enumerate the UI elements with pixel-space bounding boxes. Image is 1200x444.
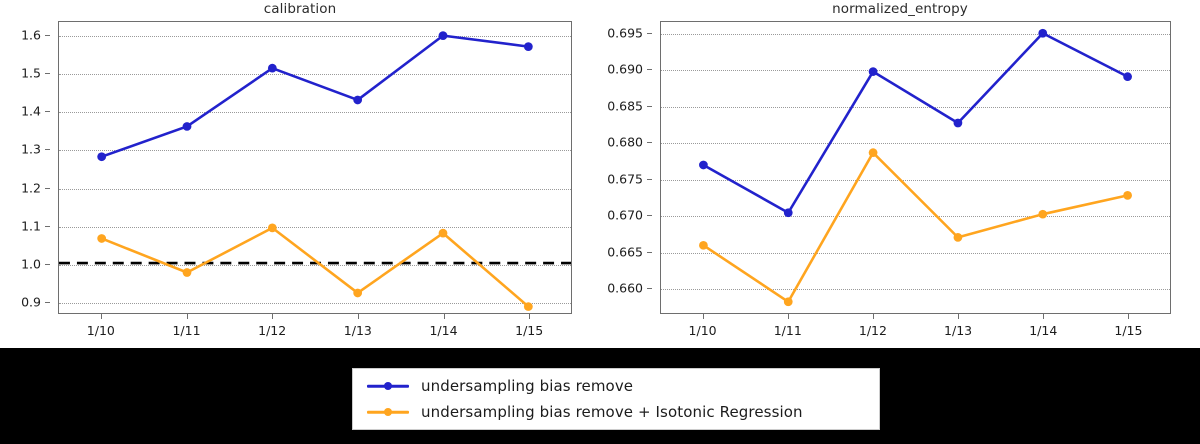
y-axis-tick-mark <box>45 188 50 189</box>
plot-area-calibration <box>58 21 572 314</box>
y-axis-tick-mark <box>647 33 652 34</box>
x-axis-tick-label: 1/15 <box>1114 323 1142 338</box>
data-point-marker[interactable] <box>1038 29 1047 38</box>
y-axis-tick-mark <box>45 73 50 74</box>
y-axis-tick-label: 1.2 <box>21 180 41 195</box>
series-layer-normalized-entropy <box>661 22 1170 313</box>
y-axis-tick-label: 0.9 <box>21 294 41 309</box>
y-axis-tick-mark <box>647 252 652 253</box>
x-axis-tick-label: 1/11 <box>172 323 200 338</box>
x-axis-tick-mark <box>703 314 704 319</box>
plot-inner-normalized-entropy <box>661 22 1170 313</box>
legend-marker-icon-1 <box>365 404 411 420</box>
data-point-marker[interactable] <box>869 148 878 157</box>
series-line <box>703 33 1127 213</box>
x-axis-tick-label: 1/15 <box>515 323 543 338</box>
y-axis-tick-label: 1.1 <box>21 218 41 233</box>
y-axis-tick-label: 0.660 <box>607 281 643 296</box>
data-point-marker[interactable] <box>1123 191 1132 200</box>
x-axis-tick-mark <box>788 314 789 319</box>
x-axis-tick-mark <box>1043 314 1044 319</box>
data-point-marker[interactable] <box>97 152 106 161</box>
y-axis-tick-mark <box>45 149 50 150</box>
x-axis-tick-label: 1/11 <box>774 323 802 338</box>
y-axis-tick-label: 1.6 <box>21 28 41 43</box>
series-layer-calibration <box>59 22 571 313</box>
y-axis-tick-label: 0.680 <box>607 135 643 150</box>
series-line <box>102 36 529 157</box>
x-axis-tick-label: 1/10 <box>689 323 717 338</box>
x-axis-tick-mark <box>358 314 359 319</box>
y-axis-tick-mark <box>45 226 50 227</box>
data-point-marker[interactable] <box>353 289 362 298</box>
legend-item-0[interactable]: undersampling bias remove <box>365 375 869 397</box>
x-axis-tick-label: 1/12 <box>258 323 286 338</box>
data-point-marker[interactable] <box>699 161 708 170</box>
data-point-marker[interactable] <box>183 122 192 131</box>
x-axis-left: 1/101/111/121/131/141/15 <box>58 314 572 344</box>
data-point-marker[interactable] <box>869 67 878 76</box>
y-axis-tick-label: 0.685 <box>607 98 643 113</box>
x-axis-tick-mark <box>958 314 959 319</box>
chart-title-calibration: calibration <box>0 1 600 17</box>
plot-inner-calibration <box>59 22 571 313</box>
legend-item-1[interactable]: undersampling bias remove + Isotonic Reg… <box>365 401 869 423</box>
legend-label-1: undersampling bias remove + Isotonic Reg… <box>421 403 803 421</box>
data-point-marker[interactable] <box>268 64 277 73</box>
data-point-marker[interactable] <box>268 223 277 232</box>
data-point-marker[interactable] <box>439 229 448 238</box>
y-axis-right: 0.6600.6650.6700.6750.6800.6850.6900.695 <box>600 21 652 314</box>
y-axis-tick-label: 1.4 <box>21 104 41 119</box>
figure-canvas: calibration 0.91.01.11.21.31.41.51.6 1/1… <box>0 0 1200 348</box>
y-axis-tick-mark <box>45 264 50 265</box>
data-point-marker[interactable] <box>439 31 448 40</box>
x-axis-tick-label: 1/10 <box>87 323 115 338</box>
x-axis-tick-mark <box>873 314 874 319</box>
plot-area-normalized-entropy <box>660 21 1171 314</box>
data-point-marker[interactable] <box>1038 210 1047 219</box>
y-axis-tick-mark <box>647 288 652 289</box>
y-axis-left: 0.91.01.11.21.31.41.51.6 <box>0 21 50 314</box>
x-axis-tick-mark <box>1128 314 1129 319</box>
y-axis-tick-mark <box>647 106 652 107</box>
data-point-marker[interactable] <box>784 208 793 217</box>
x-axis-tick-label: 1/14 <box>1029 323 1057 338</box>
x-axis-tick-mark <box>272 314 273 319</box>
data-point-marker[interactable] <box>97 234 106 243</box>
y-axis-tick-label: 1.0 <box>21 256 41 271</box>
y-axis-tick-label: 0.675 <box>607 171 643 186</box>
y-axis-tick-mark <box>647 142 652 143</box>
legend-label-0: undersampling bias remove <box>421 377 633 395</box>
x-axis-tick-mark <box>187 314 188 319</box>
data-point-marker[interactable] <box>353 96 362 105</box>
x-axis-right: 1/101/111/121/131/141/15 <box>660 314 1171 344</box>
chart-panel-calibration: calibration 0.91.01.11.21.31.41.51.6 1/1… <box>0 0 600 348</box>
y-axis-tick-mark <box>45 302 50 303</box>
y-axis-tick-label: 0.690 <box>607 62 643 77</box>
y-axis-tick-mark <box>647 69 652 70</box>
chart-title-normalized-entropy: normalized_entropy <box>600 1 1200 17</box>
x-axis-tick-label: 1/13 <box>944 323 972 338</box>
x-axis-tick-label: 1/13 <box>344 323 372 338</box>
data-point-marker[interactable] <box>699 241 708 250</box>
data-point-marker[interactable] <box>954 119 963 128</box>
series-line <box>102 228 529 307</box>
y-axis-tick-label: 1.5 <box>21 66 41 81</box>
y-axis-tick-mark <box>647 179 652 180</box>
y-axis-tick-label: 1.3 <box>21 142 41 157</box>
x-axis-tick-mark <box>529 314 530 319</box>
chart-panel-normalized-entropy: normalized_entropy <box>600 0 1200 348</box>
data-point-marker[interactable] <box>954 233 963 242</box>
chart-legend: undersampling bias remove undersampling … <box>352 368 880 430</box>
y-axis-tick-label: 0.695 <box>607 26 643 41</box>
y-axis-tick-mark <box>45 111 50 112</box>
data-point-marker[interactable] <box>524 42 533 51</box>
data-point-marker[interactable] <box>1123 72 1132 81</box>
y-axis-tick-label: 0.665 <box>607 244 643 259</box>
x-axis-tick-mark <box>101 314 102 319</box>
x-axis-tick-label: 1/12 <box>859 323 887 338</box>
y-axis-tick-mark <box>647 215 652 216</box>
series-line <box>703 153 1127 302</box>
y-axis-tick-mark <box>45 35 50 36</box>
data-point-marker[interactable] <box>524 302 533 311</box>
y-axis-tick-label: 0.670 <box>607 208 643 223</box>
x-axis-tick-label: 1/14 <box>429 323 457 338</box>
legend-marker-icon-0 <box>365 378 411 394</box>
data-point-marker[interactable] <box>784 297 793 306</box>
x-axis-tick-mark <box>444 314 445 319</box>
data-point-marker[interactable] <box>183 268 192 277</box>
